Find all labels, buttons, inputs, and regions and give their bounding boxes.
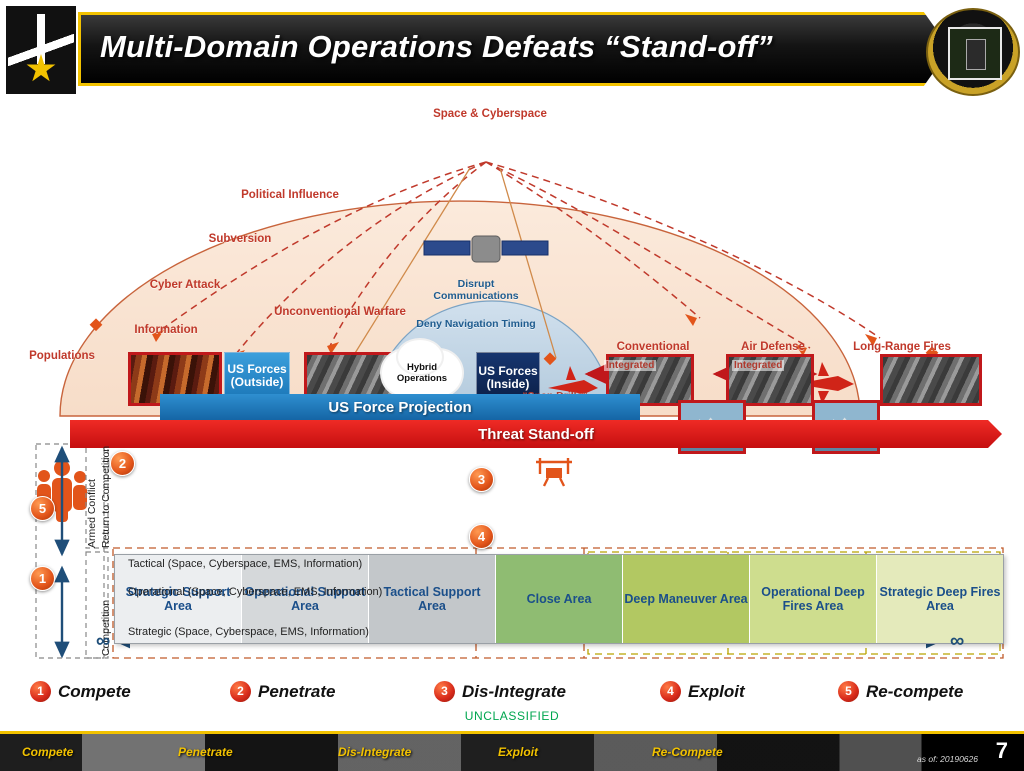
army-futures-command-seal: [926, 8, 1020, 96]
hybrid-operations-label: Hybrid Operations: [382, 362, 462, 384]
infinity-symbol-left: ∞: [96, 630, 110, 653]
footer-step-dis-integrate: Dis-Integrate: [338, 745, 411, 759]
legend-number: 3: [434, 681, 455, 702]
legend-number: 5: [838, 681, 859, 702]
legend-item-exploit: 4 Exploit: [660, 681, 745, 702]
zone-close-area[interactable]: Close Area: [496, 555, 623, 643]
echelon-label-strategic: Strategic (Space, Cyberspace, EMS, Infor…: [128, 626, 369, 638]
legend-number: 1: [30, 681, 51, 702]
slide-header: Multi-Domain Operations Defeats “Stand-o…: [0, 0, 1024, 96]
us-forces-outside-box: US Forces (Outside): [224, 352, 290, 400]
legend-label: Re-compete: [866, 682, 963, 702]
as-of-date: as of: 20190626: [917, 754, 978, 764]
legend-item-dis-integrate: 3 Dis-Integrate: [434, 681, 566, 702]
infinity-symbol-right: ∞: [950, 630, 964, 653]
footer-step-compete: Compete: [22, 745, 73, 759]
phase-label-armed-conflict: Armed Conflict: [86, 479, 98, 548]
badge-4-exploit[interactable]: 4: [469, 524, 494, 549]
legend-number: 2: [230, 681, 251, 702]
army-star-insignia: [6, 6, 76, 94]
footer-step-re-compete: Re-Compete: [652, 745, 723, 759]
legend-item-penetrate: 2 Penetrate: [230, 681, 335, 702]
page-number: 7: [996, 738, 1008, 764]
badge-1-compete[interactable]: 1: [30, 566, 55, 591]
zone-operational-deep-fires-area[interactable]: Operational Deep Fires Area: [750, 555, 877, 643]
legend-item-compete: 1 Compete: [30, 681, 131, 702]
photo-long-range-fires: [880, 354, 982, 406]
page-title: Multi-Domain Operations Defeats “Stand-o…: [100, 24, 920, 70]
footer-step-exploit: Exploit: [498, 745, 538, 759]
legend-label: Dis-Integrate: [462, 682, 566, 702]
integrated-label-left: Integrated: [604, 360, 656, 371]
badge-2-penetrate[interactable]: 2: [110, 451, 135, 476]
echelon-label-tactical: Tactical (Space, Cyberspace, EMS, Inform…: [128, 558, 362, 570]
threat-standoff-band: Threat Stand-off: [70, 420, 1002, 448]
drone-icon: [536, 458, 572, 486]
zone-tactical-support-area[interactable]: Tactical Support Area: [369, 555, 496, 643]
us-force-projection-band: US Force Projection: [160, 394, 640, 420]
classification-marking: UNCLASSIFIED: [0, 709, 1024, 723]
legend-label: Compete: [58, 682, 131, 702]
legend-label: Exploit: [688, 682, 745, 702]
slide-footer: Compete Penetrate Dis-Integrate Exploit …: [0, 731, 1024, 771]
badge-5-re-compete[interactable]: 5: [30, 496, 55, 521]
zone-strategic-deep-fires-area[interactable]: Strategic Deep Fires Area: [877, 555, 1003, 643]
legend-item-re-compete: 5 Re-compete: [838, 681, 963, 702]
footer-step-penetrate: Penetrate: [178, 745, 233, 759]
badge-3-dis-integrate[interactable]: 3: [469, 467, 494, 492]
echelon-label-operational: Operational (Space, Cyberspace, EMS, Inf…: [128, 586, 382, 598]
legend-label: Penetrate: [258, 682, 335, 702]
zone-deep-maneuver-area[interactable]: Deep Maneuver Area: [623, 555, 750, 643]
diagram-canvas: Space & Cyberspace Political Influence S…: [0, 96, 1024, 671]
legend-number: 4: [660, 681, 681, 702]
integrated-label-right: Integrated: [732, 360, 784, 371]
